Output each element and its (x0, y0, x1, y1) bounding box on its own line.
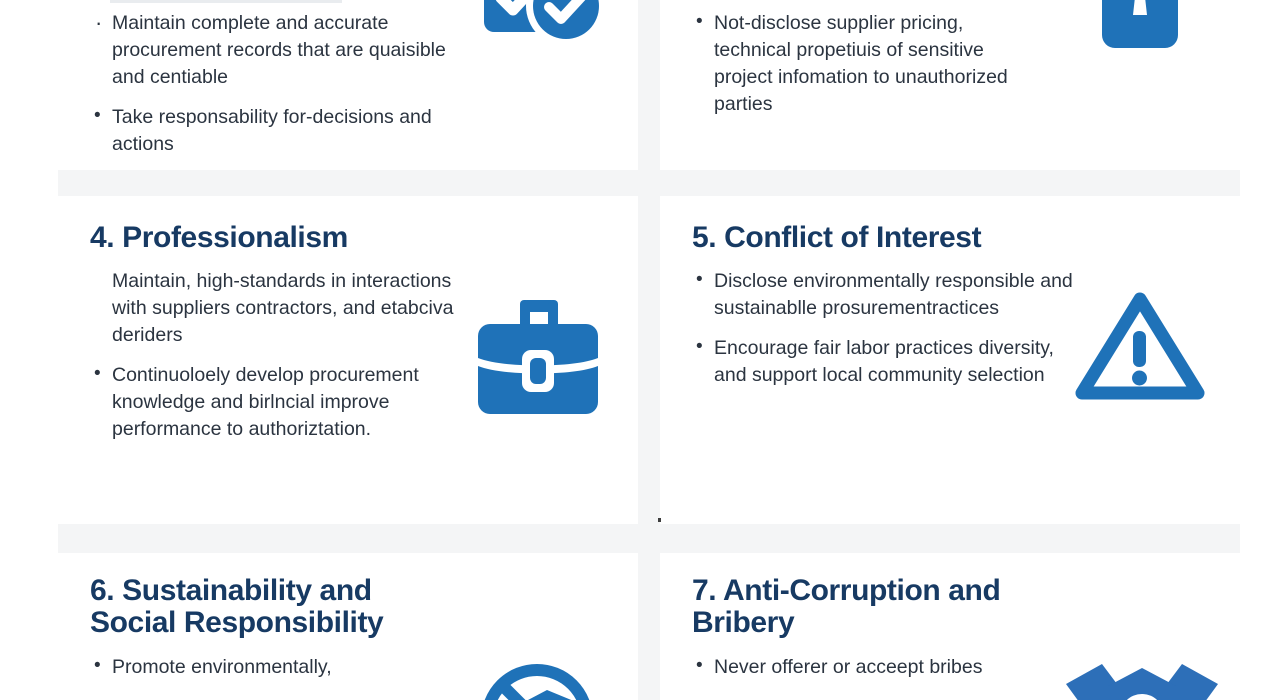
handshake-icon (1062, 650, 1222, 700)
list-item: Encourage fair labor practices diversity… (692, 335, 1077, 389)
warning-triangle-icon (1070, 285, 1210, 407)
card-bullet-list: Disclose environmentally responsible and… (692, 268, 1077, 389)
card-bullet-list: Maintain complete and accurate procureme… (90, 10, 462, 158)
left-gutter (0, 0, 58, 700)
card-bullet-list: Not-disclose supplier pricing, technical… (692, 10, 1022, 118)
card-title: 7. Anti-Corruption and Bribery (692, 575, 1212, 640)
card-title: 4. Professionalism (90, 222, 610, 254)
list-item: Never offerer or acceept bribes (692, 654, 1064, 681)
list-item: Promote environmentally, (90, 654, 462, 681)
list-item: Continuoloely develop procurement knowle… (90, 362, 462, 443)
list-item: Take responsability for-decisions and ac… (90, 104, 462, 158)
padlock-icon (1088, 0, 1192, 48)
card-bullet-list: Never offerer or acceept bribes (692, 654, 1064, 681)
list-item: Not-disclose supplier pricing, technical… (692, 10, 1022, 118)
list-item: Maintain complete and accurate procureme… (90, 10, 462, 91)
infographic-page: Maintain complete and accurate procureme… (0, 0, 1280, 700)
list-item: Maintain, high-standards in interactions… (90, 268, 462, 349)
list-item: Disclose environmentally responsible and… (692, 268, 1077, 322)
scan-artifact-speck (658, 518, 661, 522)
briefcase-icon (470, 296, 606, 420)
clipped-text-line (110, 0, 510, 3)
no-bribe-money-icon: $ (467, 648, 607, 700)
card-title: 5. Conflict of Interest (692, 222, 1212, 254)
double-check-icon (478, 0, 604, 50)
card-bullet-list: Maintain, high-standards in interactions… (90, 268, 462, 442)
card-bullet-list: Promote environmentally, (90, 654, 462, 681)
right-gutter (1240, 0, 1280, 700)
card-title: 6. Sustainability and Social Responsibil… (90, 575, 610, 640)
